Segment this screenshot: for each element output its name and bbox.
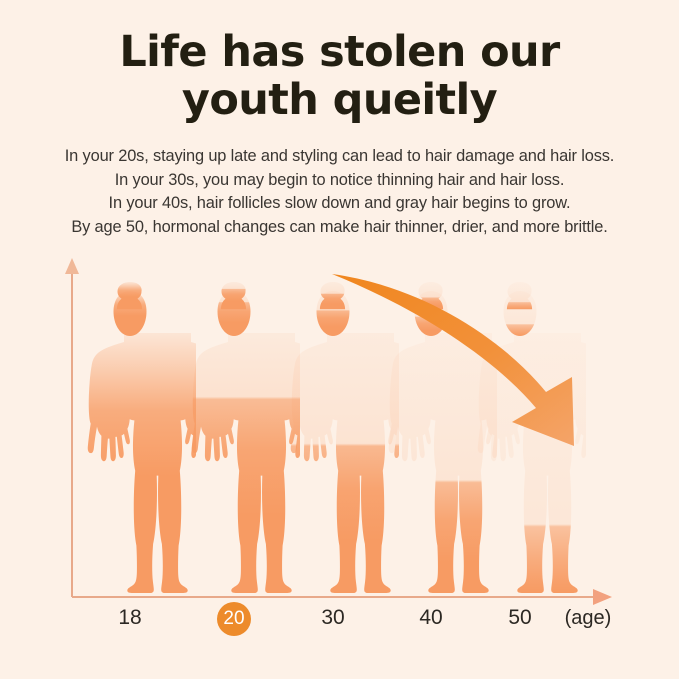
axis-tick-18: 18 <box>118 606 141 630</box>
axis-tick-50: 50 <box>508 606 531 630</box>
title-line-2: youth queitly <box>0 76 679 124</box>
body-line-2: In your 30s, you may begin to notice thi… <box>0 169 679 193</box>
body-copy: In your 20s, staying up late and styling… <box>0 145 679 239</box>
axis-tick-40: 40 <box>419 606 442 630</box>
axis-tick-20-highlight[interactable]: 20 <box>217 602 251 636</box>
body-line-4: By age 50, hormonal changes can make hai… <box>0 216 679 240</box>
axis-tick-30: 30 <box>321 606 344 630</box>
title-line-1: Life has stolen our <box>0 28 679 76</box>
figure-age-50 <box>478 282 618 593</box>
page-title: Life has stolen our youth queitly <box>0 28 679 124</box>
figure-group <box>88 282 618 593</box>
y-axis <box>65 258 79 597</box>
infographic-poster: Life has stolen our youth queitly In you… <box>0 0 679 679</box>
body-line-3: In your 40s, hair follicles slow down an… <box>0 192 679 216</box>
axis-label-age: (age) <box>565 607 612 630</box>
body-line-1: In your 20s, staying up late and styling… <box>0 145 679 169</box>
age-progression-chart: 18 20 30 40 50 (age) <box>0 250 679 679</box>
